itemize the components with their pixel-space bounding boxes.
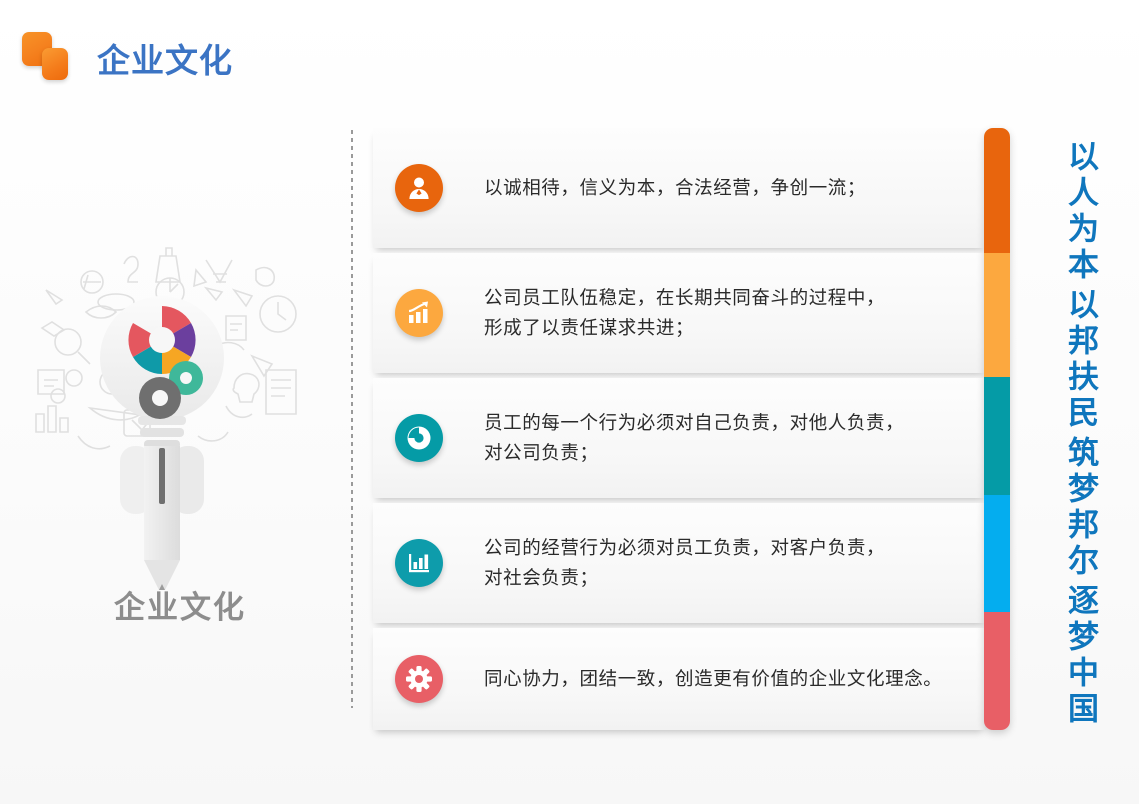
- segment-orange-light: [984, 253, 1010, 378]
- bar-chart-icon: [395, 539, 443, 587]
- slogan-3: 筑梦邦尔: [1036, 436, 1096, 580]
- slogan-1: 以人为本: [1036, 140, 1096, 284]
- two-squares-logo-icon: [22, 32, 70, 80]
- segment-cyan: [984, 495, 1010, 612]
- vertical-dotted-divider: [351, 130, 353, 708]
- slide-header: 企业文化: [0, 0, 1139, 112]
- list-item-text: 同心协力，团结一致，创造更有价值的企业文化理念。: [484, 664, 942, 694]
- slogan-2: 以邦扶民: [1036, 288, 1096, 432]
- growth-bar-chart-arrow-icon: [395, 289, 443, 337]
- list-item-text: 公司的经营行为必须对员工负责，对客户负责， 对社会负责；: [484, 533, 885, 593]
- list-item[interactable]: 以诚相待，信义为本，合法经营，争创一流；: [373, 128, 985, 248]
- illustration-caption: 企业文化: [20, 582, 340, 627]
- lightbulb-gears-pencil-illustration-icon: [20, 230, 340, 590]
- pie-chart-icon: [395, 414, 443, 462]
- list-item[interactable]: 员工的每一个行为必须对自己负责，对他人负责， 对公司负责；: [373, 378, 985, 498]
- list-item-text: 员工的每一个行为必须对自己负责，对他人负责， 对公司负责；: [484, 408, 904, 468]
- person-user-icon: [395, 164, 443, 212]
- left-illustration-panel: 企业文化: [20, 230, 340, 650]
- logo-square-front: [42, 48, 68, 80]
- list-item[interactable]: 同心协力，团结一致，创造更有价值的企业文化理念。: [373, 628, 985, 730]
- segment-orange-dark: [984, 128, 1010, 253]
- list-item[interactable]: 公司员工队伍稳定，在长期共同奋斗的过程中， 形成了以责任谋求共进；: [373, 253, 985, 373]
- gear-cog-icon: [395, 655, 443, 703]
- page-title: 企业文化: [97, 34, 233, 82]
- color-accent-bar: [984, 128, 1010, 730]
- segment-teal: [984, 377, 1010, 494]
- slogan-4: 逐梦中国: [1036, 584, 1096, 728]
- list-item-text: 以诚相待，信义为本，合法经营，争创一流；: [484, 173, 866, 203]
- segment-coral: [984, 612, 1010, 730]
- list-item-text: 公司员工队伍稳定，在长期共同奋斗的过程中， 形成了以责任谋求共进；: [484, 283, 885, 343]
- vertical-slogan-group: 以人为本 以邦扶民 筑梦邦尔 逐梦中国: [1036, 140, 1096, 730]
- slide-canvas: 企业文化: [0, 0, 1139, 804]
- list-item[interactable]: 公司的经营行为必须对员工负责，对客户负责， 对社会负责；: [373, 503, 985, 623]
- content-rows-list: 以诚相待，信义为本，合法经营，争创一流； 公司员工队伍稳定，在长期共同奋斗的过程…: [373, 128, 985, 730]
